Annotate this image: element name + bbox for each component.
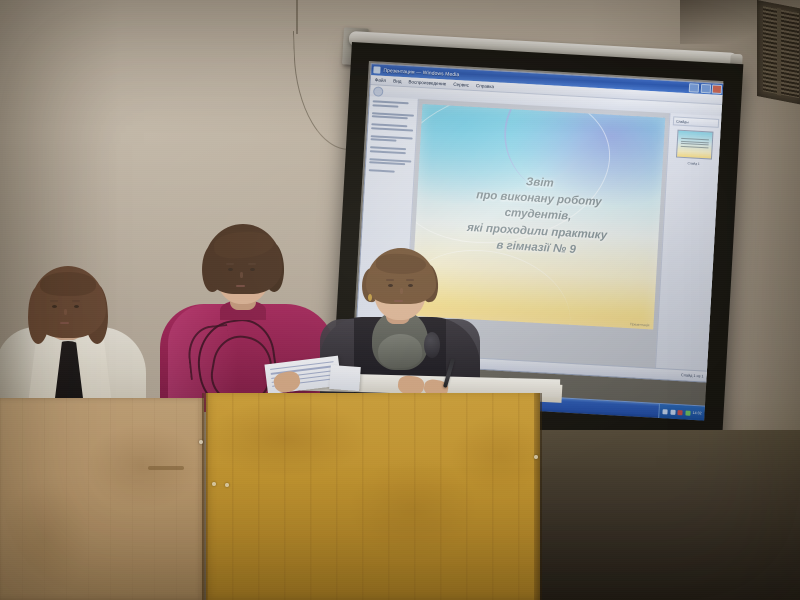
antivirus-icon[interactable]	[677, 410, 682, 415]
person-right-brow-left	[386, 279, 394, 281]
person-right-eye-left	[388, 284, 393, 287]
slide-credit: Презентація	[630, 322, 650, 327]
floor-area	[540, 430, 800, 600]
close-icon[interactable]	[712, 84, 722, 94]
vent-louvers	[763, 6, 799, 98]
person-left-brow-right	[72, 300, 80, 302]
menu-item-help[interactable]: Справка	[476, 83, 494, 89]
second-paper	[329, 365, 361, 391]
person-right-earring	[368, 294, 372, 301]
wood-grain-left	[0, 398, 204, 600]
person-center-nose	[240, 272, 243, 278]
panel-screw-3	[199, 440, 203, 444]
wood-panel-right	[206, 393, 540, 600]
language-icon[interactable]	[685, 410, 690, 415]
panel-screw-2	[212, 482, 216, 486]
wood-panel-left	[0, 398, 204, 600]
person-left-eye-left	[52, 305, 57, 308]
panel-screw-4	[534, 455, 538, 459]
thumbnail-pane-header: Слайды	[673, 116, 719, 128]
menu-item-tools[interactable]: Сервис	[453, 82, 469, 88]
person-right-eye-right	[408, 284, 413, 287]
menu-item-view[interactable]: Вид	[393, 78, 402, 83]
person-left-eye-right	[74, 305, 79, 308]
task-pane-group-design[interactable]	[372, 112, 414, 120]
panel-right-edge	[534, 393, 542, 600]
thumbnail-text-lines	[681, 138, 709, 148]
menu-item-file[interactable]: Файл	[375, 77, 387, 83]
slide-thumbnail-label: Слайд 1	[671, 160, 717, 167]
window-control-buttons[interactable]	[689, 83, 722, 94]
person-left-nose	[64, 309, 67, 315]
panel-left-scuff	[148, 466, 184, 470]
network-icon[interactable]	[670, 409, 675, 414]
person-center-brow-left	[226, 263, 234, 265]
person-right-brow-right	[406, 279, 414, 281]
volume-icon[interactable]	[662, 409, 667, 414]
system-tray[interactable]: 14:32	[658, 404, 705, 421]
conference-room-photo: Презентация — Windows Media Файл Вид Вос…	[0, 0, 800, 600]
person-left-brow-left	[50, 300, 58, 302]
menu-item-playback[interactable]: Воспроизведение	[408, 79, 446, 86]
task-pane-group-animation[interactable]	[370, 135, 412, 143]
person-left-fringe	[40, 272, 96, 296]
person-right-brooch	[424, 332, 440, 358]
panel-seam	[202, 393, 208, 600]
toolbar-round-button[interactable]	[373, 86, 384, 97]
maximize-button[interactable]	[700, 84, 710, 94]
task-pane-group-slide-tasks[interactable]	[372, 100, 414, 108]
thumbnail-pane-title: Слайды	[676, 119, 689, 124]
task-pane-group-help[interactable]	[369, 169, 411, 173]
person-center-brow-right	[248, 263, 256, 265]
person-center-eye-right	[250, 268, 255, 271]
air-vent-icon	[757, 0, 800, 105]
task-pane-group-transitions[interactable]	[370, 146, 412, 154]
app-icon	[373, 66, 380, 73]
task-pane-group-new-presentation[interactable]	[369, 158, 411, 166]
panel-screw-1	[225, 483, 229, 487]
taskbar-clock: 14:32	[692, 411, 701, 416]
slide-thumbnail[interactable]	[676, 130, 714, 160]
vent-divider	[777, 8, 781, 96]
person-left	[0, 268, 146, 413]
task-pane-group-layout[interactable]	[371, 123, 413, 131]
status-text: Слайд 1 из 1	[681, 373, 704, 378]
person-right-nose	[400, 288, 403, 294]
person-center-eye-left	[228, 268, 233, 271]
wall-cable-upper	[296, 0, 298, 34]
wood-grain-right	[206, 393, 540, 600]
minimize-button[interactable]	[689, 83, 699, 93]
